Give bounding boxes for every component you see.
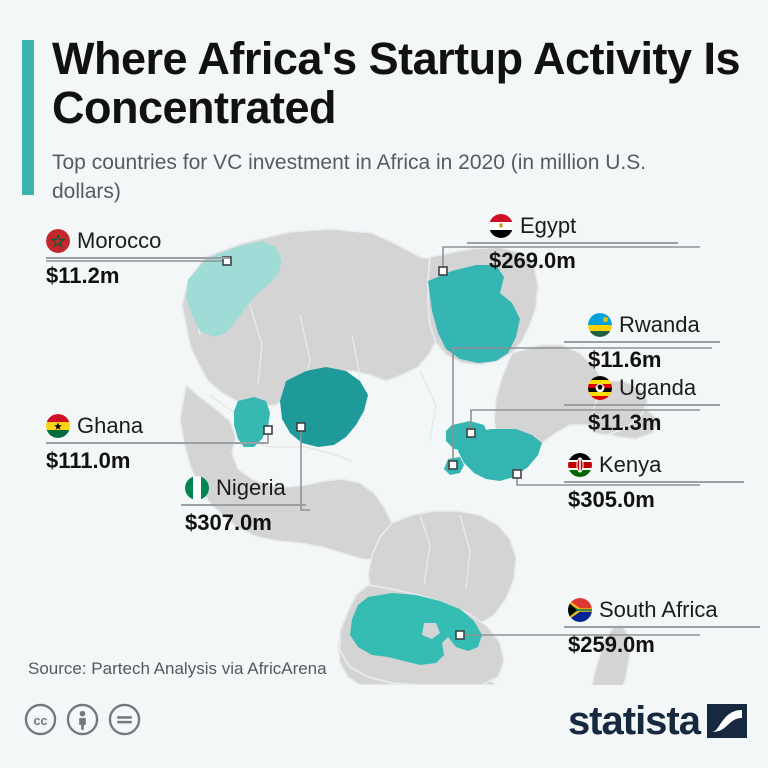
kenya-flag-icon [568,453,592,477]
callout-kenya-head: Kenya [568,452,744,478]
callout-south-africa-head: South Africa [568,597,760,623]
country-nigeria [280,367,368,447]
callout-nigeria-rule [181,504,306,506]
license-icons: cc [24,703,141,736]
callout-kenya-rule [564,481,744,483]
callout-uganda[interactable]: Uganda $11.3m [588,375,720,436]
statista-wordmark: statista [568,701,700,741]
callout-kenya-value: $305.0m [568,487,744,513]
callout-uganda-head: Uganda [588,375,720,401]
callout-morocco[interactable]: Morocco $11.2m [46,228,230,289]
infographic-root: Where Africa's Startup Activity Is Conce… [0,0,768,768]
callout-egypt-rule [467,242,678,244]
callout-uganda-name: Uganda [619,375,696,401]
callout-south-africa-value: $259.0m [568,632,760,658]
callout-nigeria-head: Nigeria [185,475,306,501]
page-title: Where Africa's Startup Activity Is Conce… [52,34,752,132]
callout-uganda-rule [564,404,720,406]
callout-morocco-rule [46,257,230,259]
callout-nigeria-name: Nigeria [216,475,286,501]
callout-egypt-value: $269.0m [489,248,678,274]
by-icon [66,703,99,736]
callout-morocco-name: Morocco [77,228,161,254]
callout-egypt-head: Egypt [489,213,678,239]
callout-rwanda-value: $11.6m [588,347,720,373]
callout-rwanda-head: Rwanda [588,312,720,338]
title-accent-bar [22,40,34,195]
callout-south-africa-name: South Africa [599,597,718,623]
nigeria-flag-icon [185,476,209,500]
marker-rwanda [449,461,457,469]
callout-ghana-rule [46,442,268,444]
statista-mark-icon [706,700,748,742]
callout-ghana-name: Ghana [77,413,143,439]
rwanda-flag-icon [588,313,612,337]
south-africa-flag-icon [568,598,592,622]
callout-morocco-value: $11.2m [46,263,230,289]
callout-uganda-value: $11.3m [588,410,720,436]
callout-egypt[interactable]: Egypt $269.0m [489,213,678,274]
callout-rwanda-name: Rwanda [619,312,700,338]
callout-south-africa-rule [564,626,760,628]
callout-kenya[interactable]: Kenya $305.0m [568,452,744,513]
callout-kenya-name: Kenya [599,452,661,478]
callout-nigeria[interactable]: Nigeria $307.0m [185,475,306,536]
callout-south-africa[interactable]: South Africa $259.0m [568,597,760,658]
callout-rwanda-rule [564,341,720,343]
ghana-flag-icon [46,414,70,438]
statista-logo[interactable]: statista [568,700,748,742]
callout-ghana-value: $111.0m [46,448,268,474]
callout-nigeria-value: $307.0m [185,510,306,536]
callout-rwanda[interactable]: Rwanda $11.6m [588,312,720,373]
egypt-flag-icon [489,214,513,238]
callout-egypt-name: Egypt [520,213,576,239]
marker-egypt [439,267,447,275]
cc-icon: cc [24,703,57,736]
callout-ghana[interactable]: Ghana $111.0m [46,413,268,474]
marker-kenya [513,470,521,478]
source-note: Source: Partech Analysis via AfricArena [28,659,327,679]
marker-nigeria [297,423,305,431]
morocco-flag-icon [46,229,70,253]
nd-icon [108,703,141,736]
svg-text:cc: cc [33,714,47,728]
marker-south-africa [456,631,464,639]
marker-uganda [467,429,475,437]
callout-morocco-head: Morocco [46,228,230,254]
callout-ghana-head: Ghana [46,413,268,439]
uganda-flag-icon [588,376,612,400]
